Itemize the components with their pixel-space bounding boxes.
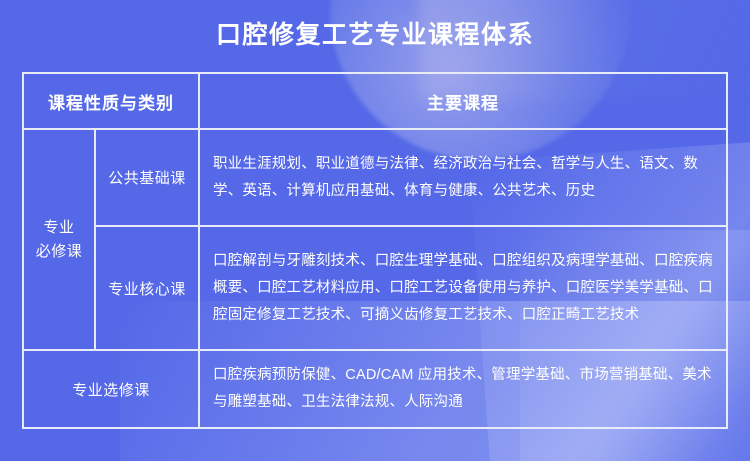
courses-cell-elective: 口腔疾病预防保健、CAD/CAM 应用技术、管理学基础、市场营销基础、美术与雕塑… xyxy=(199,350,727,428)
table-header-row: 课程性质与类别 主要课程 xyxy=(23,73,727,129)
table-row: 专业核心课 口腔解剖与牙雕刻技术、口腔生理学基础、口腔组织及病理学基础、口腔疾病… xyxy=(23,226,727,350)
column-header-category: 课程性质与类别 xyxy=(23,73,199,129)
table-row: 专业选修课 口腔疾病预防保健、CAD/CAM 应用技术、管理学基础、市场营销基础… xyxy=(23,350,727,428)
category-label-line1: 专业 xyxy=(43,219,74,236)
course-system-table: 课程性质与类别 主要课程 专业 必修课 公共基础课 职业生涯规划、职业道德与法律… xyxy=(22,72,728,429)
courses-cell-core: 口腔解剖与牙雕刻技术、口腔生理学基础、口腔组织及病理学基础、口腔疾病概要、口腔工… xyxy=(199,226,727,350)
table-row: 专业 必修课 公共基础课 职业生涯规划、职业道德与法律、经济政治与社会、哲学与人… xyxy=(23,129,727,226)
category-cell-elective: 专业选修课 xyxy=(23,350,199,428)
subcategory-cell-general-basic: 公共基础课 xyxy=(95,129,199,226)
page-title: 口腔修复工艺专业课程体系 xyxy=(0,18,750,52)
category-label-line2: 必修课 xyxy=(36,243,83,260)
column-header-courses: 主要课程 xyxy=(199,73,727,129)
poster-stage: 口腔修复工艺专业课程体系 课程性质与类别 主要课程 专业 必修课 公共基础课 职… xyxy=(0,0,750,461)
subcategory-cell-core: 专业核心课 xyxy=(95,226,199,350)
courses-cell-general-basic: 职业生涯规划、职业道德与法律、经济政治与社会、哲学与人生、语文、数学、英语、计算… xyxy=(199,129,727,226)
category-cell-required: 专业 必修课 xyxy=(23,129,95,350)
